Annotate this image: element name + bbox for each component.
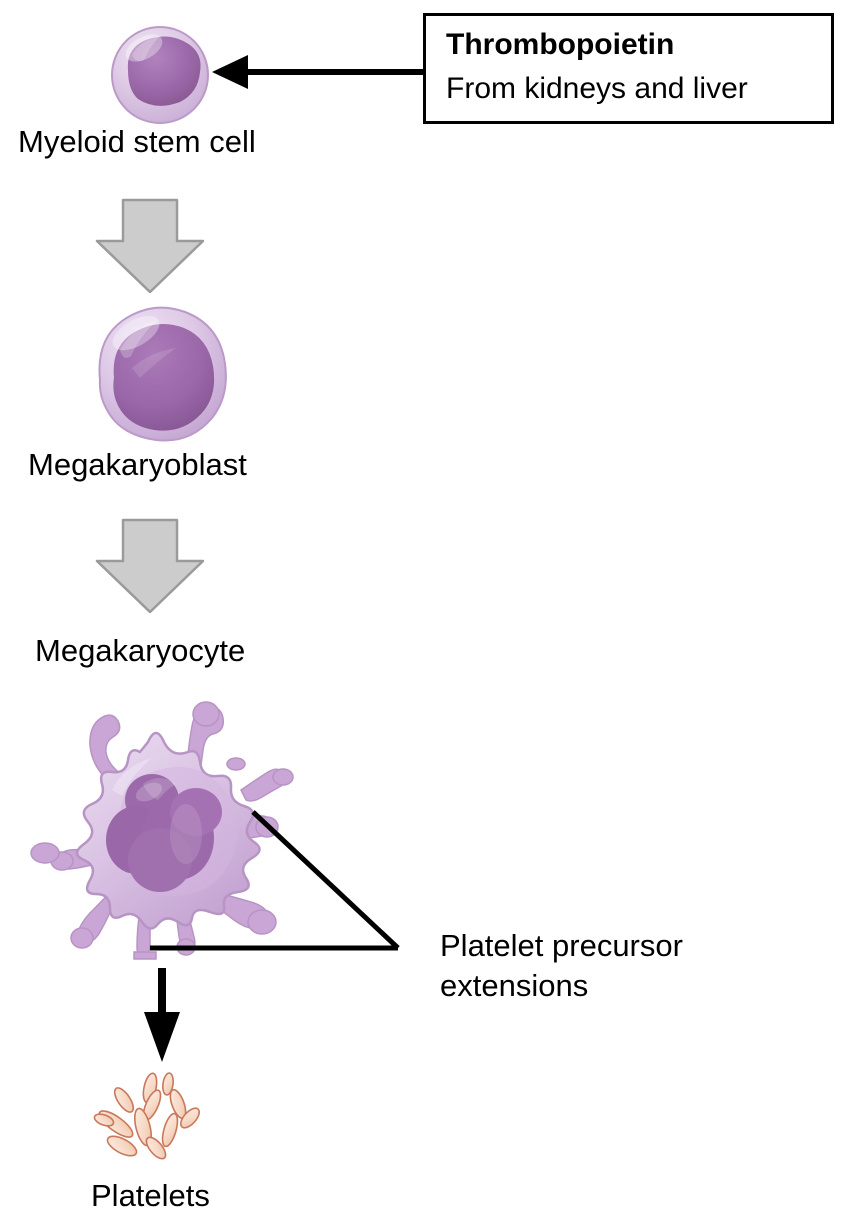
label-megakaryoblast: Megakaryoblast (28, 447, 247, 482)
label-megakaryocyte: Megakaryocyte (35, 633, 245, 668)
label-platelets: Platelets (91, 1178, 210, 1213)
differentiation-arrow-2 (97, 520, 203, 612)
platelet-release-arrow (144, 968, 180, 1062)
diagram-canvas: Thrombopoietin From kidneys and liver My… (0, 0, 846, 1225)
platelets-graphic (93, 1072, 203, 1162)
megakaryoblast-graphic (99, 308, 225, 441)
diagram-graphics (0, 0, 846, 1225)
annotation-platelet-precursor-extensions-line1: Platelet precursor (440, 928, 683, 963)
thrombopoietin-arrow (212, 55, 424, 89)
myeloid-stem-cell-graphic (112, 27, 208, 123)
annotation-platelet-precursor-extensions-line2: extensions (440, 968, 588, 1003)
megakaryocyte-graphic (31, 702, 293, 959)
callout-subtitle: From kidneys and liver (446, 72, 748, 106)
label-myeloid-stem-cell: Myeloid stem cell (18, 124, 256, 159)
callout-title: Thrombopoietin (446, 28, 674, 62)
differentiation-arrow-1 (97, 200, 203, 292)
